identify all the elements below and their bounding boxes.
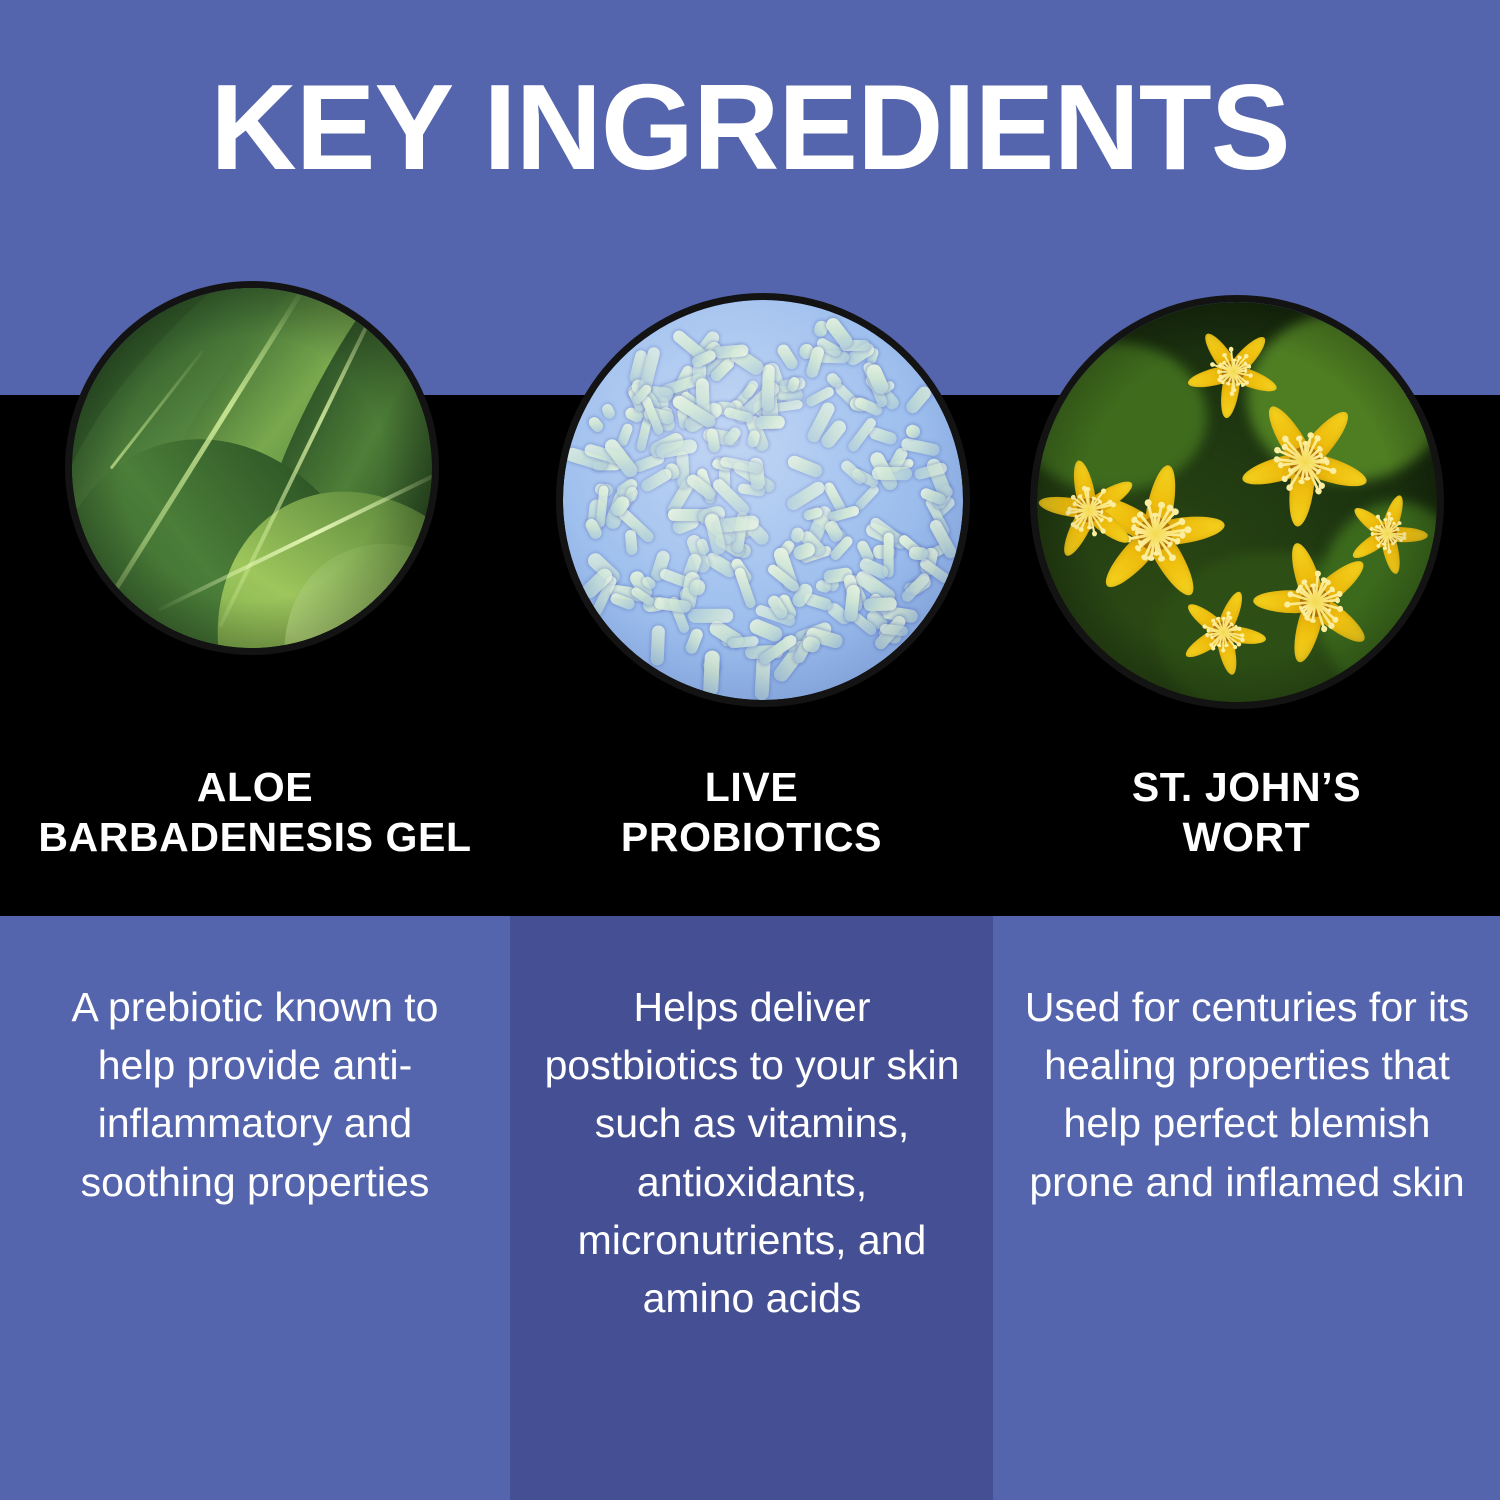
key-ingredients-poster: KEY INGREDIENTS	[0, 0, 1500, 1500]
ingredient-name-aloe: ALOE BARBADENESIS GEL	[0, 762, 510, 862]
ingredient-name-line: PROBIOTICS	[510, 812, 993, 862]
ingredient-name-wort: ST. JOHN’S WORT	[993, 762, 1500, 862]
ingredient-name-probiotics: LIVE PROBIOTICS	[510, 762, 993, 862]
ingredient-description-aloe: A prebiotic known to help provide anti-i…	[38, 978, 472, 1211]
ingredient-name-line: ALOE	[0, 762, 510, 812]
ingredient-description-probiotics: Helps deliver postbiotics to your skin s…	[534, 978, 970, 1327]
ingredient-name-line: ST. JOHN’S	[993, 762, 1500, 812]
probiotics-microscope-photo	[563, 300, 963, 700]
st-johns-wort-flowers-photo	[1037, 302, 1437, 702]
aloe-leaves-photo	[72, 288, 432, 648]
ingredient-description-wort: Used for centuries for its healing prope…	[1020, 978, 1474, 1211]
page-title: KEY INGREDIENTS	[15, 66, 1485, 188]
ingredient-name-line: WORT	[993, 812, 1500, 862]
ingredient-name-line: LIVE	[510, 762, 993, 812]
ingredient-name-line: BARBADENESIS GEL	[0, 812, 510, 862]
